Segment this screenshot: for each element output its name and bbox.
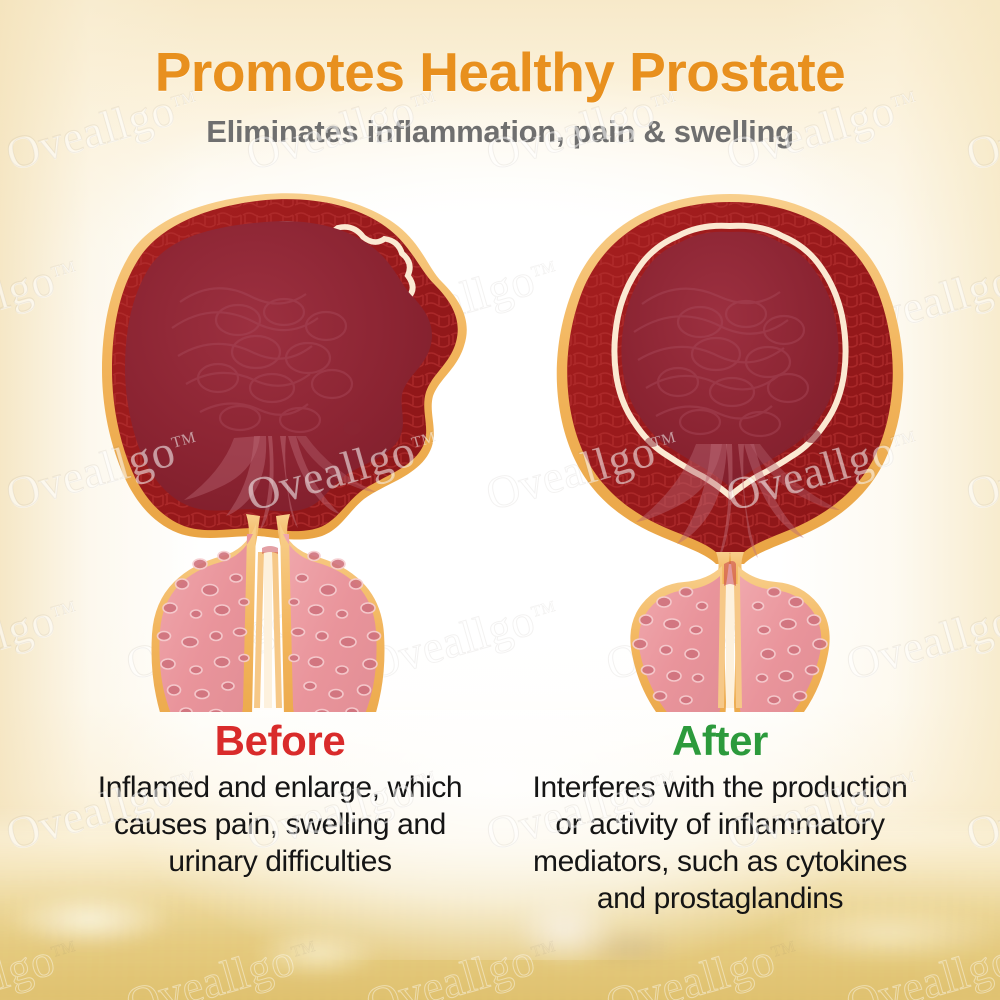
caption-before-body: Inflamed and enlarge, which causes pain,… — [90, 770, 470, 881]
figure-before — [60, 192, 480, 712]
header: Promotes Healthy Prostate Eliminates inf… — [0, 0, 1000, 150]
figure-row — [0, 192, 1000, 712]
page-title: Promotes Healthy Prostate — [0, 44, 1000, 102]
caption-after-heading: After — [520, 718, 920, 764]
caption-after-body: Interferes with the production or activi… — [520, 770, 920, 918]
caption-before-heading: Before — [90, 718, 470, 764]
poster-canvas: OveallgoTMOveallgoTMOveallgoTMOveallgoTM… — [0, 0, 1000, 1000]
caption-row: Before Inflamed and enlarge, which cause… — [0, 718, 1000, 988]
caption-after: After Interferes with the production or … — [520, 718, 920, 918]
page-subtitle: Eliminates inflammation, pain & swelling — [0, 114, 1000, 150]
figure-after — [520, 192, 940, 712]
urethra-before — [254, 546, 282, 708]
caption-before: Before Inflamed and enlarge, which cause… — [90, 718, 470, 881]
